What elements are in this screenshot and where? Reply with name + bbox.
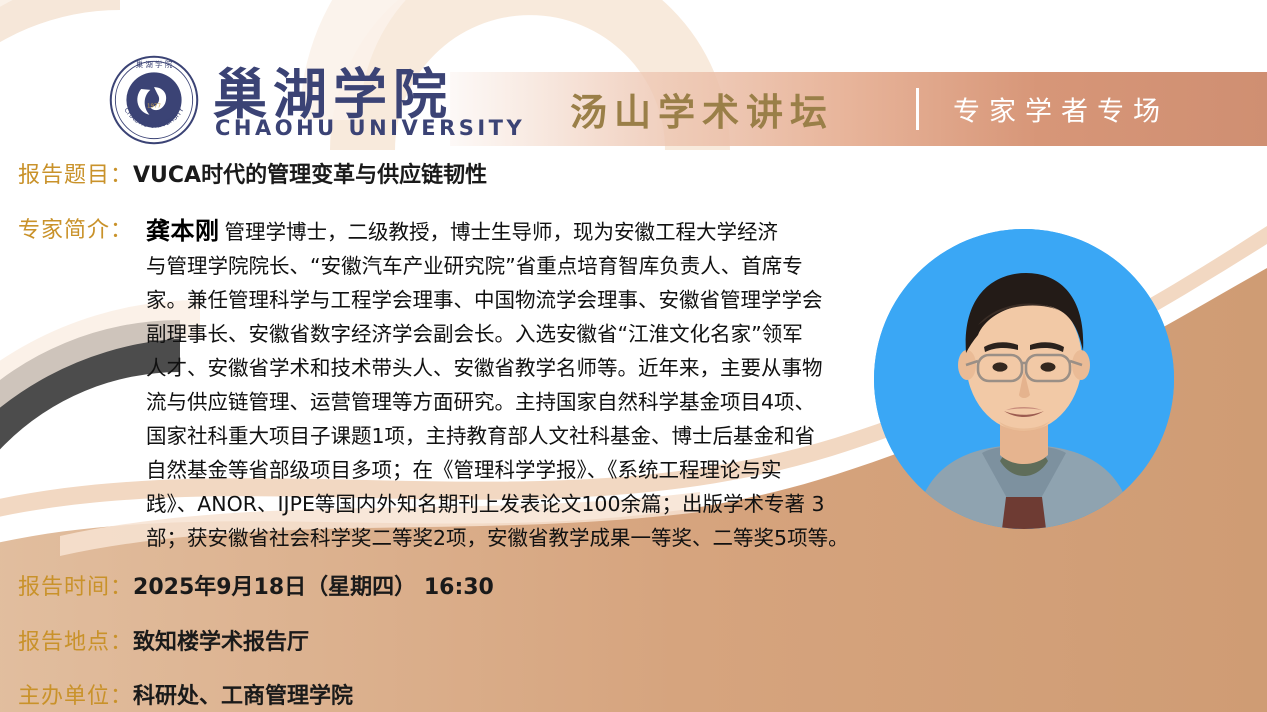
lecture-time-value: 2025年9月18日（星期四） 16:30 (133, 573, 494, 603)
lecture-place-label: 报告地点： (18, 628, 133, 658)
lecture-place-value: 致知楼学术报告厅 (133, 628, 309, 658)
svg-text:1977: 1977 (147, 103, 162, 109)
bio-line: 自然基金等省部级项目多项；在《管理科学学报》、《系统工程理论与实 (146, 453, 888, 487)
lecture-title-value: VUCA时代的管理变革与供应链韧性 (133, 161, 487, 191)
lecture-host-label: 主办单位： (18, 682, 133, 712)
speaker-portrait-image (874, 229, 1174, 529)
lecture-title-row: 报告题目： VUCA时代的管理变革与供应链韧性 (18, 161, 487, 191)
banner-divider (916, 88, 919, 130)
banner-title: 汤山学术讲坛 (570, 82, 834, 136)
poster-root: 汤山学术讲坛 专家学者专场 1977 巢 湖 学 院 CHAOHU UNIVER… (0, 0, 1267, 712)
bio-line: 家。兼任管理科学与工程学会理事、中国物流学会理事、安徽省管理学学会 (146, 283, 888, 317)
lecture-host-row: 主办单位： 科研处、工商管理学院 (18, 682, 353, 712)
bio-line: 践》、ANOR、IJPE等国内外知名期刊上发表论文100余篇；出版学术专著 3 (146, 487, 888, 521)
bio-line-text: 管理学博士，二级教授，博士生导师，现为安徽工程大学经济 (225, 220, 779, 244)
speaker-bio-row: 专家简介： 龚本刚管理学博士，二级教授，博士生导师，现为安徽工程大学经济 与管理… (18, 214, 888, 248)
bio-line: 龚本刚管理学博士，二级教授，博士生导师，现为安徽工程大学经济 (146, 214, 888, 249)
header-banner: 汤山学术讲坛 专家学者专场 (450, 72, 1267, 146)
lecture-time-row: 报告时间： 2025年9月18日（星期四） 16:30 (18, 573, 494, 603)
bio-line: 与管理学院院长、“安徽汽车产业研究院”省重点培育智库负责人、首席专 (146, 249, 888, 283)
bio-line: 人才、安徽省学术和技术带头人、安徽省教学名师等。近年来，主要从事物 (146, 351, 888, 385)
banner-subtitle: 专家学者专场 (953, 90, 1169, 129)
lecture-time-label: 报告时间： (18, 573, 133, 603)
bio-line: 部；获安徽省社会科学奖二等奖2项，安徽省教学成果一等奖、二等奖5项等。 (146, 521, 888, 555)
bio-line: 副理事长、安徽省数字经济学会副会长。入选安徽省“江淮文化名家”领军 (146, 317, 888, 351)
university-seal-icon: 1977 巢 湖 学 院 CHAOHU UNIVERSITY (108, 54, 200, 146)
bio-line: 国家社科重大项目子课题1项，主持教育部人文社科基金、博士后基金和省 (146, 419, 888, 453)
logo-english-name: CHAOHU UNIVERSITY (215, 116, 525, 140)
university-logo: 1977 巢 湖 学 院 CHAOHU UNIVERSITY 巢湖学院 CHAO… (108, 52, 458, 152)
lecture-place-row: 报告地点： 致知楼学术报告厅 (18, 628, 309, 658)
lecture-host-value: 科研处、工商管理学院 (133, 682, 353, 712)
speaker-bio-label: 专家简介： (18, 218, 133, 243)
lecture-title-label: 报告题目： (18, 161, 133, 191)
speaker-name: 龚本刚 (146, 217, 220, 245)
bio-line: 流与供应链管理、运营管理等方面研究。主持国家自然科学基金项目4项、 (146, 385, 888, 419)
speaker-bio-text: 龚本刚管理学博士，二级教授，博士生导师，现为安徽工程大学经济 与管理学院院长、“… (146, 214, 888, 555)
svg-text:巢 湖 学 院: 巢 湖 学 院 (136, 60, 173, 69)
speaker-portrait (874, 229, 1174, 529)
